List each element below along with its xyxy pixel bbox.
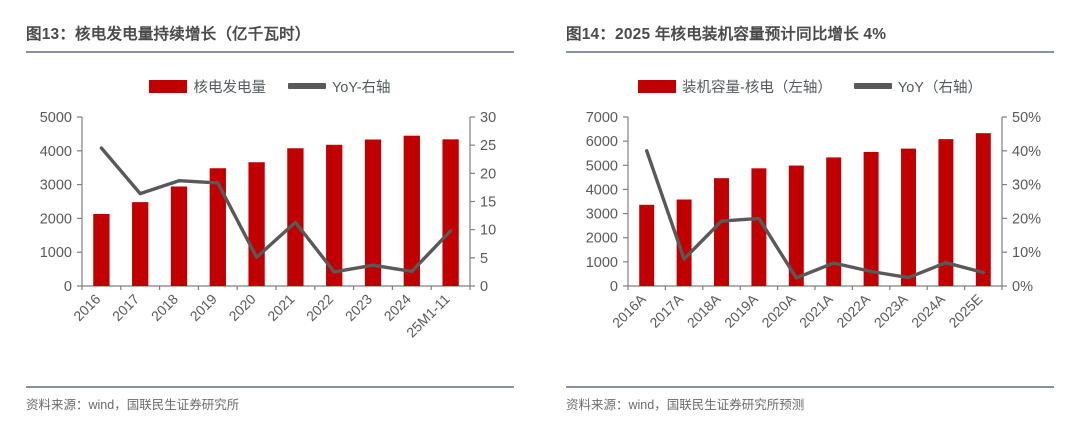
- legend-line-swatch-icon: [288, 83, 326, 89]
- svg-text:2000: 2000: [40, 211, 72, 227]
- legend-item-bar-right: 装机容量-核电（左轴）: [638, 76, 832, 97]
- svg-text:0: 0: [64, 279, 72, 295]
- svg-text:2023: 2023: [342, 291, 375, 324]
- svg-text:2021A: 2021A: [796, 290, 836, 330]
- svg-text:25M1-11: 25M1-11: [403, 291, 453, 341]
- legend-bar-label-right: 装机容量-核电（左轴）: [682, 76, 832, 97]
- figure-footer-right: 资料来源：wind，国联民生证券研究所预测: [566, 386, 1054, 413]
- svg-text:10%: 10%: [1012, 245, 1041, 261]
- chart-svg-right: 010002000300040005000600070000%10%20%30%…: [566, 111, 1054, 361]
- chart-plot-right: 010002000300040005000600070000%10%20%30%…: [566, 111, 1054, 366]
- svg-text:6000: 6000: [586, 134, 618, 150]
- svg-text:1000: 1000: [586, 255, 618, 271]
- page-title-left: 图13：核电发电量持续增长（亿千瓦时）: [26, 0, 514, 51]
- svg-text:7000: 7000: [586, 110, 618, 126]
- legend-bar-label-left: 核电发电量: [193, 76, 266, 97]
- figure-panel-left: 图13：核电发电量持续增长（亿千瓦时） 核电发电量 YoY-右轴 0100020…: [0, 0, 540, 423]
- svg-text:10: 10: [480, 223, 496, 239]
- page-title-right: 图14：2025 年核电装机容量预计同比增长 4%: [566, 0, 1054, 51]
- svg-text:2022A: 2022A: [833, 290, 873, 330]
- title-divider-right: [566, 51, 1054, 53]
- legend-bar-swatch-icon: [149, 80, 187, 93]
- legend-line-label-left: YoY-右轴: [332, 76, 391, 97]
- svg-text:2024A: 2024A: [908, 290, 948, 330]
- figure-footer-left: 资料来源：wind，国联民生证券研究所: [26, 386, 514, 413]
- svg-text:5000: 5000: [40, 110, 72, 126]
- svg-text:25: 25: [480, 138, 496, 154]
- svg-text:2025E: 2025E: [945, 291, 985, 331]
- chart-legend-left: 核电发电量 YoY-右轴: [26, 75, 514, 97]
- footer-divider-left: [26, 386, 514, 388]
- figures-page: 图13：核电发电量持续增长（亿千瓦时） 核电发电量 YoY-右轴 0100020…: [0, 0, 1080, 423]
- svg-text:2000: 2000: [586, 231, 618, 247]
- svg-text:40%: 40%: [1012, 144, 1041, 160]
- svg-text:0: 0: [480, 279, 488, 295]
- svg-text:2021: 2021: [264, 291, 297, 324]
- svg-text:1000: 1000: [40, 245, 72, 261]
- svg-text:30%: 30%: [1012, 178, 1041, 194]
- legend-item-line-left: YoY-右轴: [288, 76, 391, 97]
- chart-svg-left: 0100020003000400050000510152025302016201…: [26, 111, 514, 361]
- svg-text:2022: 2022: [303, 291, 336, 324]
- footer-divider-right: [566, 386, 1054, 388]
- svg-text:2020: 2020: [225, 291, 258, 324]
- svg-text:2017: 2017: [109, 291, 142, 324]
- svg-text:2020A: 2020A: [758, 290, 798, 330]
- svg-text:0%: 0%: [1012, 279, 1033, 295]
- svg-text:3000: 3000: [586, 207, 618, 223]
- svg-text:4000: 4000: [40, 144, 72, 160]
- svg-text:50%: 50%: [1012, 110, 1041, 126]
- legend-item-bar-left: 核电发电量: [149, 76, 266, 97]
- svg-text:30: 30: [480, 110, 496, 126]
- svg-text:2024: 2024: [381, 291, 414, 324]
- legend-line-label-right: YoY（右轴）: [898, 76, 982, 97]
- svg-text:4000: 4000: [586, 182, 618, 198]
- svg-text:2016A: 2016A: [609, 290, 649, 330]
- source-note-right: 资料来源：wind，国联民生证券研究所预测: [566, 394, 1054, 413]
- legend-line-swatch-icon: [854, 83, 892, 89]
- legend-item-line-right: YoY（右轴）: [854, 76, 982, 97]
- svg-text:2016: 2016: [70, 291, 103, 324]
- figure-panel-right: 图14：2025 年核电装机容量预计同比增长 4% 装机容量-核电（左轴） Yo…: [540, 0, 1080, 423]
- title-divider-left: [26, 51, 514, 53]
- svg-text:0: 0: [610, 279, 618, 295]
- svg-text:20: 20: [480, 166, 496, 182]
- source-note-left: 资料来源：wind，国联民生证券研究所: [26, 394, 514, 413]
- svg-text:2019: 2019: [187, 291, 220, 324]
- svg-text:2018: 2018: [148, 291, 181, 324]
- svg-text:2019A: 2019A: [721, 290, 761, 330]
- svg-text:5: 5: [480, 251, 488, 267]
- svg-text:3000: 3000: [40, 178, 72, 194]
- svg-text:2018A: 2018A: [684, 290, 724, 330]
- svg-text:20%: 20%: [1012, 211, 1041, 227]
- chart-plot-left: 0100020003000400050000510152025302016201…: [26, 111, 514, 366]
- svg-text:15: 15: [480, 195, 496, 211]
- svg-text:2023A: 2023A: [871, 290, 911, 330]
- svg-text:2017A: 2017A: [646, 290, 686, 330]
- chart-legend-right: 装机容量-核电（左轴） YoY（右轴）: [566, 75, 1054, 97]
- svg-text:5000: 5000: [586, 158, 618, 174]
- legend-bar-swatch-icon: [638, 80, 676, 93]
